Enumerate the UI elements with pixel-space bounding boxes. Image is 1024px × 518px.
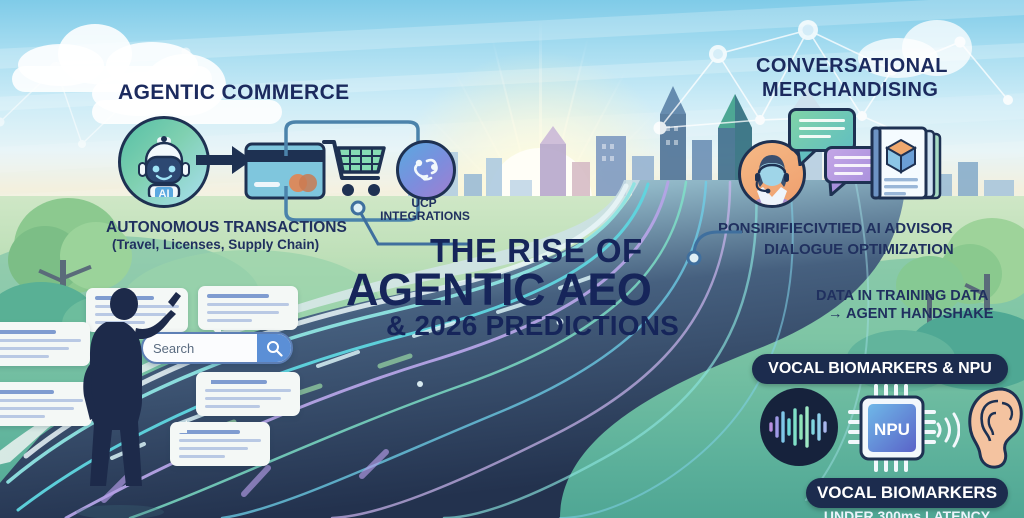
svg-text:AI: AI <box>159 188 170 197</box>
conversational-caption-line2: DIALOGUE OPTIMIZATION <box>764 241 954 259</box>
ear-icon <box>958 386 1024 472</box>
vocal-biomarkers-badge-label: VOCAL BIOMARKERS <box>817 483 997 503</box>
search-button[interactable] <box>257 334 291 362</box>
agent-handshake-note-line1: DATA IN TRAINING DATA <box>816 288 988 305</box>
section-heading-conversational-line1: CONVERSATIONAL <box>756 56 948 78</box>
vocal-biomarkers-npu-badge: VOCAL BIOMARKERS & NPU <box>752 354 1008 384</box>
ucp-network-icon <box>396 140 456 200</box>
chat-bubble-2 <box>198 286 298 330</box>
latency-footnote: UNDER 300ms LATENCY <box>806 508 1008 518</box>
audio-waveform-icon <box>760 388 838 466</box>
chat-bubble-5 <box>196 372 300 416</box>
person-silhouette-icon <box>62 280 192 518</box>
section-heading-agentic-commerce: AGENTIC COMMERCE <box>118 82 350 105</box>
leader-line-right <box>684 216 744 266</box>
page-title-line2: AGENTIC AEO <box>346 264 651 316</box>
section-heading-conversational-line2: MERCHANDISING <box>762 80 938 102</box>
agentic-commerce-caption-line2: (Travel, Licenses, Supply Chain) <box>112 237 319 252</box>
chat-bubble-5-tail <box>200 372 211 385</box>
sound-wave-icon <box>934 410 960 450</box>
agentic-commerce-caption-line1: AUTONOMOUS TRANSACTIONS <box>106 219 347 237</box>
npu-chip-icon: NPU <box>846 382 938 474</box>
vocal-biomarkers-npu-badge-label: VOCAL BIOMARKERS & NPU <box>768 360 992 378</box>
product-catalog-icon <box>866 124 948 206</box>
search-icon <box>266 340 283 357</box>
infographic-canvas: AGENTIC COMMERCE AI <box>0 0 1024 518</box>
page-title-line3: & 2026 PREDICTIONS <box>386 310 679 342</box>
conversational-caption-line1: PONSIRIFIECIVTIED AI ADVISOR <box>718 220 953 238</box>
vocal-biomarkers-badge: VOCAL BIOMARKERS <box>806 478 1008 508</box>
svg-text:NPU: NPU <box>874 420 910 439</box>
agent-handshake-note-line2: → AGENT HANDSHAKE <box>828 306 993 323</box>
